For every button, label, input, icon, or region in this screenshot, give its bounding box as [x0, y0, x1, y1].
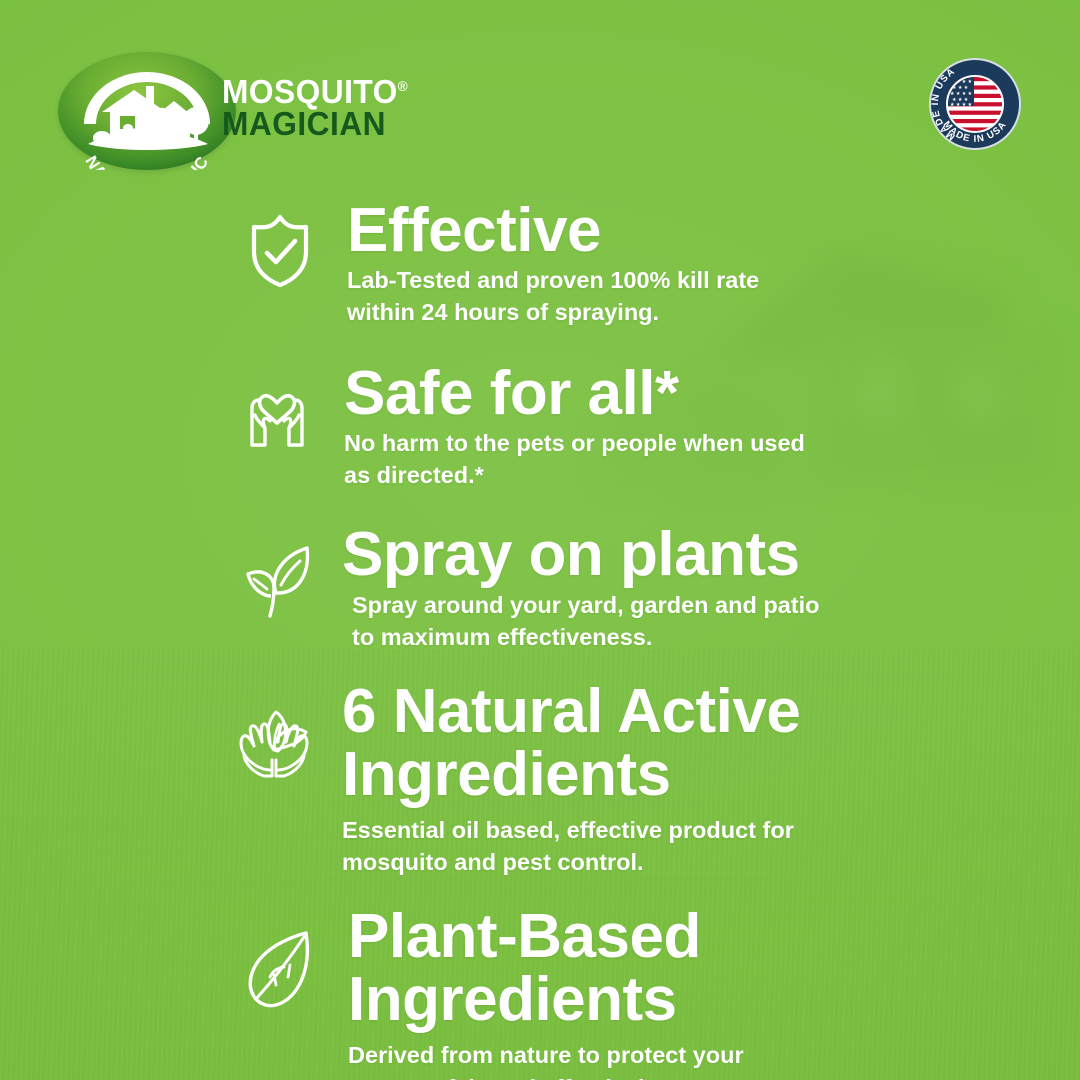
header: NATURES MAGIC MOSQUITO® MAGICIAN: [0, 0, 1080, 185]
feature-heading: Spray on plants: [342, 524, 1080, 586]
sprout-two-leaves-icon: [232, 538, 318, 620]
brand-logo[interactable]: NATURES MAGIC: [58, 52, 236, 170]
feature-heading: 6 Natural Active Ingredients: [342, 680, 1080, 806]
logo-curved-text: NATURES MAGIC: [81, 153, 212, 170]
made-in-usa-badge: ★ ★ ★ ★ ★ ★ ★ ★ ★ ★ ★ ★ ★ ★ ★ ★ ★ ★ MADE…: [928, 57, 1022, 151]
natures-magic-house-badge-icon: NATURES MAGIC: [58, 52, 236, 170]
feature-body: No harm to the pets or people when used …: [344, 427, 1080, 492]
feature-text: 6 Natural Active Ingredients Essential o…: [342, 680, 1080, 879]
feature-body: Spray around your yard, garden and patio…: [352, 589, 1080, 654]
feature-text: Safe for all* No harm to the pets or peo…: [344, 363, 1080, 492]
feature-text: Effective Lab-Tested and proven 100% kil…: [347, 200, 1080, 329]
shield-check-icon: [243, 212, 317, 290]
feature-body: Essential oil based, effective product f…: [342, 814, 1080, 879]
feature-heading: Plant-Based Ingredients: [348, 905, 1080, 1031]
made-in-usa-flag-badge-icon: ★ ★ ★ ★ ★ ★ ★ ★ ★ ★ ★ ★ ★ ★ ★ ★ ★ ★ MADE…: [928, 57, 1022, 151]
leaf-veins-icon: [238, 925, 326, 1017]
feature-body: Derived from nature to protect your spac…: [348, 1039, 1080, 1080]
hands-holding-heart-icon: [238, 373, 316, 453]
feature-text: Spray on plants Spray around your yard, …: [342, 524, 1080, 654]
svg-text:★ ★ ★ ★: ★ ★ ★ ★: [950, 102, 973, 108]
feature-item-safe-for-all: Safe for all* No harm to the pets or peo…: [238, 363, 1080, 492]
feature-item-spray-on-plants: Spray on plants Spray around your yard, …: [232, 524, 1080, 654]
feature-body: Lab-Tested and proven 100% kill rate wit…: [347, 264, 1080, 329]
feature-text: Plant-Based Ingredients Derived from nat…: [348, 905, 1080, 1080]
svg-text:NATURES MAGIC: NATURES MAGIC: [81, 153, 212, 170]
wordmark-magician: MAGICIAN: [222, 108, 408, 140]
brand-wordmark: MOSQUITO® MAGICIAN: [222, 76, 416, 139]
feature-item-effective: Effective Lab-Tested and proven 100% kil…: [243, 200, 1080, 329]
registered-mark: ®: [398, 78, 408, 94]
feature-item-plant-based: Plant-Based Ingredients Derived from nat…: [238, 905, 1080, 1080]
feature-item-natural-ingredients: 6 Natural Active Ingredients Essential o…: [228, 680, 1080, 879]
feature-heading: Safe for all*: [344, 363, 1080, 425]
infographic-canvas: NATURES MAGIC MOSQUITO® MAGICIAN: [0, 0, 1080, 1080]
wordmark-mosquito: MOSQUITO®: [222, 76, 408, 108]
hands-holding-leaves-icon: [228, 698, 320, 786]
feature-list: Effective Lab-Tested and proven 100% kil…: [0, 182, 1080, 1080]
feature-heading: Effective: [347, 200, 1080, 262]
